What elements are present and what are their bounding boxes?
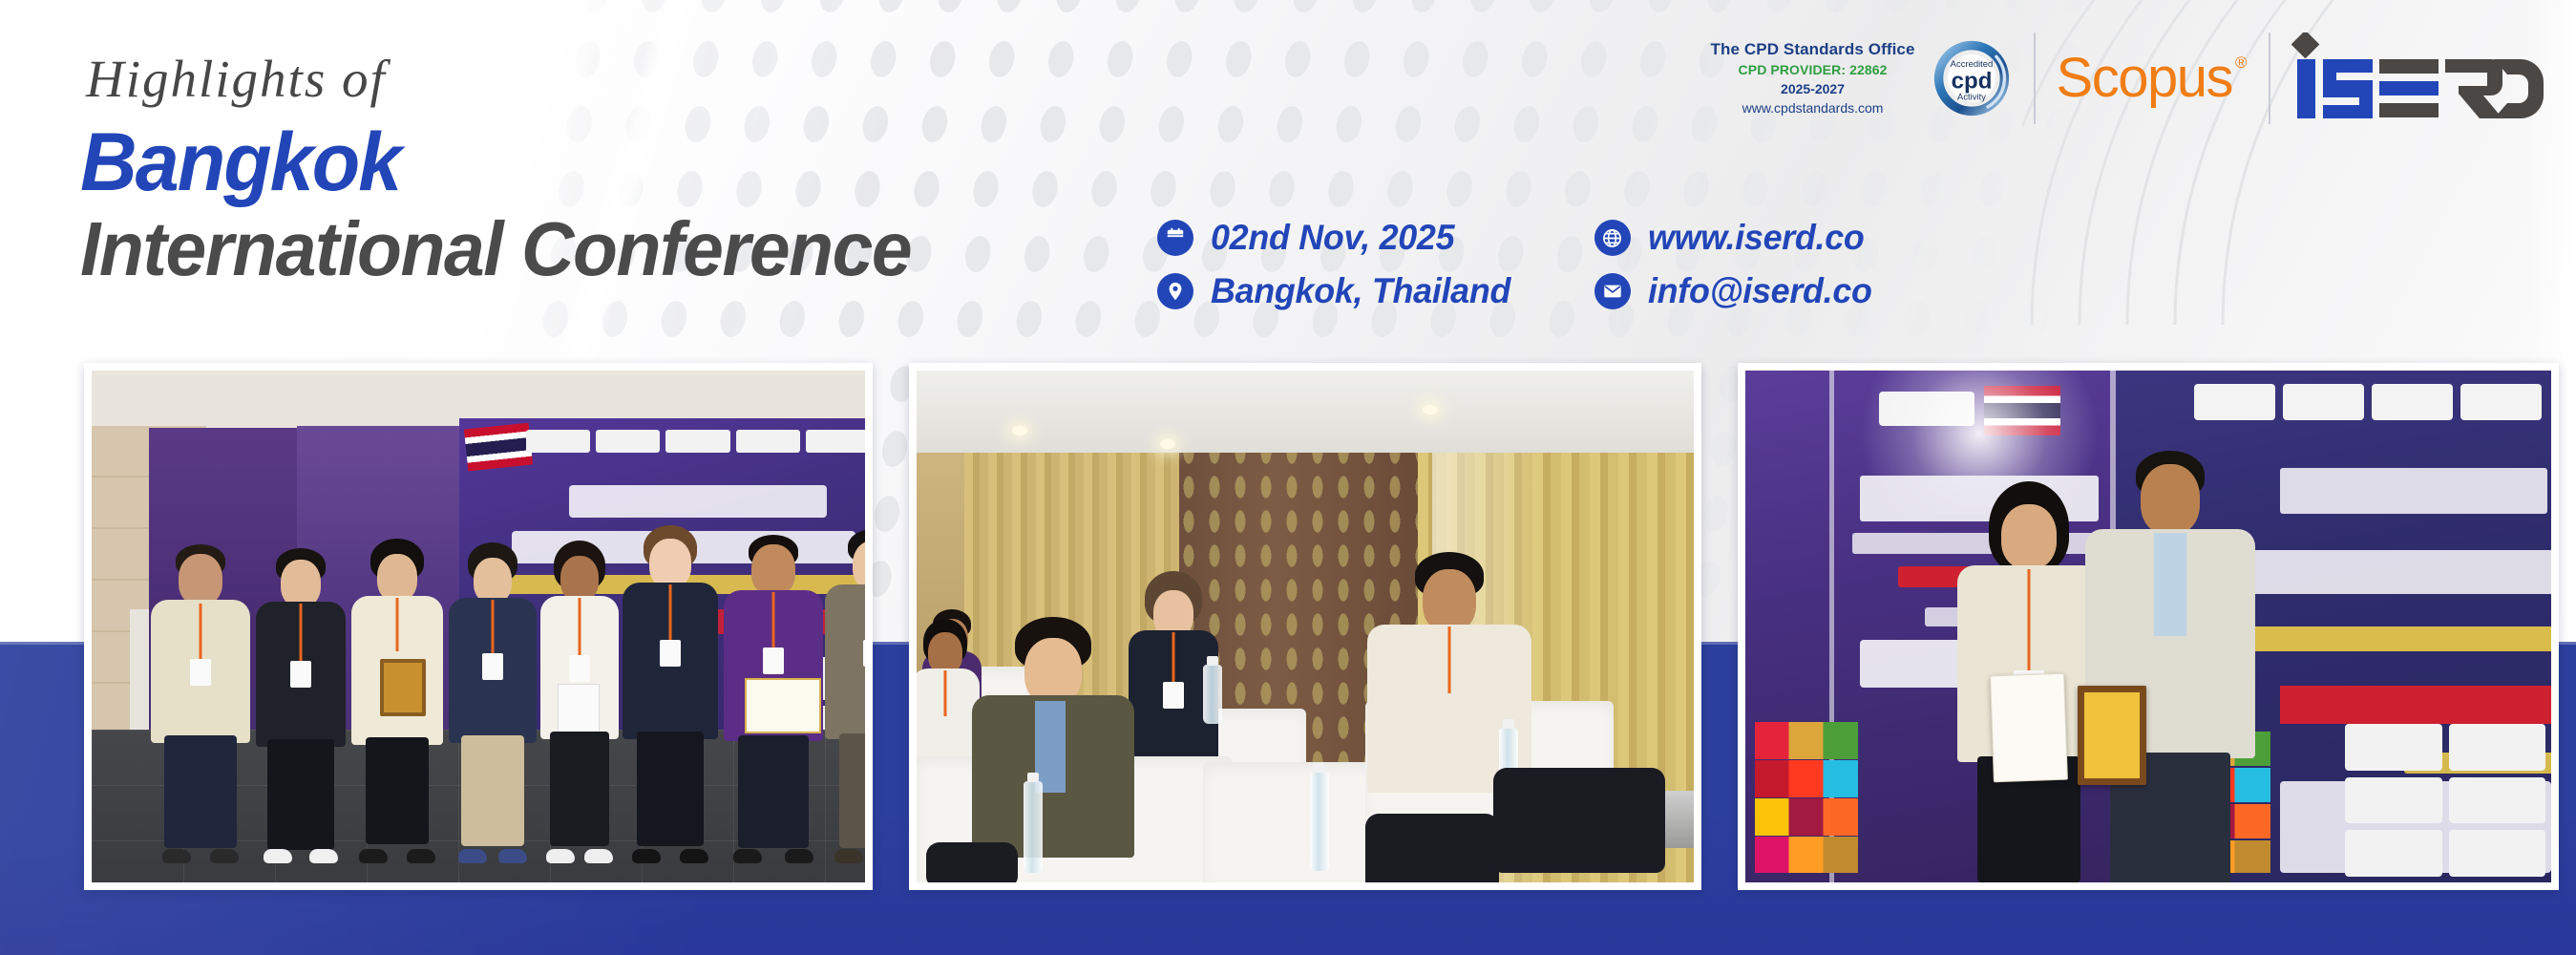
- scopus-wordmark: Scopus®: [2057, 51, 2248, 106]
- contact-item-date: 02nd Nov, 2025: [1157, 218, 1520, 258]
- contact-details: 02nd Nov, 2025 www.iserd.co Bangkok, Tha…: [1157, 218, 1879, 311]
- contact-email-text[interactable]: info@iserd.co: [1648, 271, 1872, 311]
- contact-website-text[interactable]: www.iserd.co: [1648, 218, 1865, 258]
- audience-photo-frame[interactable]: [909, 363, 1701, 890]
- headline-block: Highlights of Bangkok International Conf…: [80, 53, 945, 289]
- scopus-registered-mark: ®: [2235, 54, 2246, 71]
- cpd-years-line: 2025-2027: [1711, 80, 1915, 99]
- award-photo-frame[interactable]: [1738, 363, 2559, 890]
- group-photo-with-conference-banner: [92, 371, 865, 882]
- contact-date-text: 02nd Nov, 2025: [1211, 218, 1454, 258]
- svg-text:Activity: Activity: [1957, 92, 1986, 102]
- photo-strip: [0, 363, 2576, 898]
- contact-item-website[interactable]: www.iserd.co: [1594, 218, 1879, 258]
- contact-item-email[interactable]: info@iserd.co: [1594, 271, 1879, 311]
- globe-icon: [1594, 220, 1631, 256]
- calendar-icon: [1157, 220, 1193, 256]
- audience-session-photo: [917, 371, 1694, 882]
- location-pin-icon: [1157, 273, 1193, 309]
- logo-divider-1: [2034, 32, 2036, 124]
- headline-script-line: Highlights of: [80, 53, 945, 105]
- envelope-icon: [1594, 273, 1631, 309]
- logo-divider-2: [2269, 32, 2270, 124]
- award-presentation-photo: [1745, 371, 2551, 882]
- iserd-logo: [2291, 32, 2547, 124]
- headline-city: Bangkok: [80, 120, 911, 205]
- headline-subtitle: International Conference: [80, 209, 911, 289]
- contact-location-text: Bangkok, Thailand: [1211, 271, 1510, 311]
- cpd-accredited-badge-icon: Accredited cpd Activity: [1931, 37, 2013, 119]
- cpd-office-line: The CPD Standards Office: [1711, 38, 1915, 61]
- iserd-wordmark-icon: [2291, 32, 2547, 124]
- cpd-provider-line: CPD PROVIDER: 22862: [1711, 61, 1915, 80]
- accreditation-logo-bar: The CPD Standards Office CPD PROVIDER: 2…: [1711, 21, 2547, 136]
- contact-item-location: Bangkok, Thailand: [1157, 271, 1520, 311]
- conference-highlights-banner: Highlights of Bangkok International Conf…: [0, 0, 2576, 955]
- scopus-text: Scopus: [2057, 47, 2232, 109]
- cpd-standards-text-block: The CPD Standards Office CPD PROVIDER: 2…: [1711, 38, 1921, 118]
- svg-text:cpd: cpd: [1951, 68, 1992, 94]
- group-photo-frame[interactable]: [84, 363, 873, 890]
- cpd-website-line: www.cpdstandards.com: [1711, 99, 1915, 118]
